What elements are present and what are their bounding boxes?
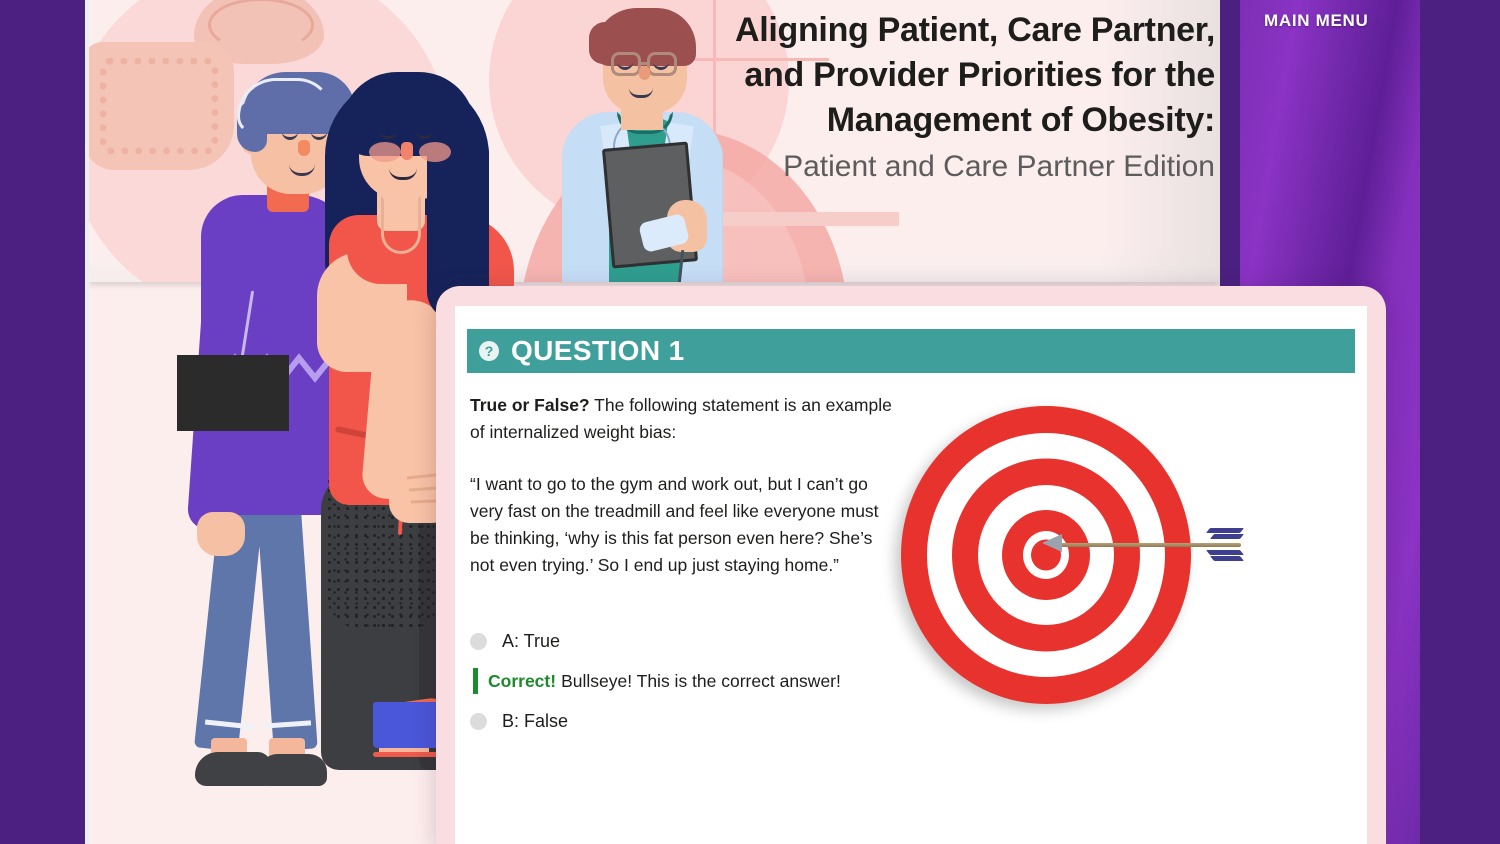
arrow-shaft (1056, 543, 1241, 547)
question-text: True or False? The following statement i… (470, 392, 900, 580)
question-mark-icon: ? (479, 341, 499, 361)
question-header-bar: ? QUESTION 1 (467, 329, 1355, 373)
radio-button-a[interactable] (470, 633, 487, 650)
question-title: QUESTION 1 (511, 335, 685, 367)
app-stage: MAIN MENU (0, 0, 1500, 844)
arrow-tip (1042, 534, 1062, 552)
feedback-message: Bullseye! This is the correct answer! (561, 671, 841, 692)
answer-options: A: True Correct! Bullseye! This is the c… (470, 626, 910, 736)
title-line-2: and Provider Priorities for the (655, 53, 1215, 98)
feedback-status: Correct! (488, 671, 556, 692)
title-subtitle: Patient and Care Partner Edition (655, 147, 1215, 186)
left-purple-bar (0, 0, 85, 844)
feedback-correct: Correct! Bullseye! This is the correct a… (473, 664, 910, 698)
answer-label-a: A: True (502, 631, 560, 652)
radio-button-b[interactable] (470, 713, 487, 730)
title-line-3: Management of Obesity: (655, 98, 1215, 143)
main-menu-button[interactable]: MAIN MENU (1264, 11, 1369, 31)
intestine-icon (89, 42, 234, 170)
answer-option-b[interactable]: B: False (470, 706, 910, 736)
bullseye-target-icon (896, 400, 1196, 710)
prompt-bold: True or False? (470, 395, 590, 415)
question-quote: “I want to go to the gym and work out, b… (470, 471, 900, 580)
question-prompt: True or False? The following statement i… (470, 392, 900, 447)
title-line-1: Aligning Patient, Care Partner, (655, 8, 1215, 53)
page-title: Aligning Patient, Care Partner, and Prov… (655, 8, 1215, 186)
answer-label-b: B: False (502, 711, 568, 732)
feedback-accent-bar (473, 668, 478, 694)
bag-icon (177, 355, 289, 431)
answer-option-a[interactable]: A: True (470, 626, 910, 656)
